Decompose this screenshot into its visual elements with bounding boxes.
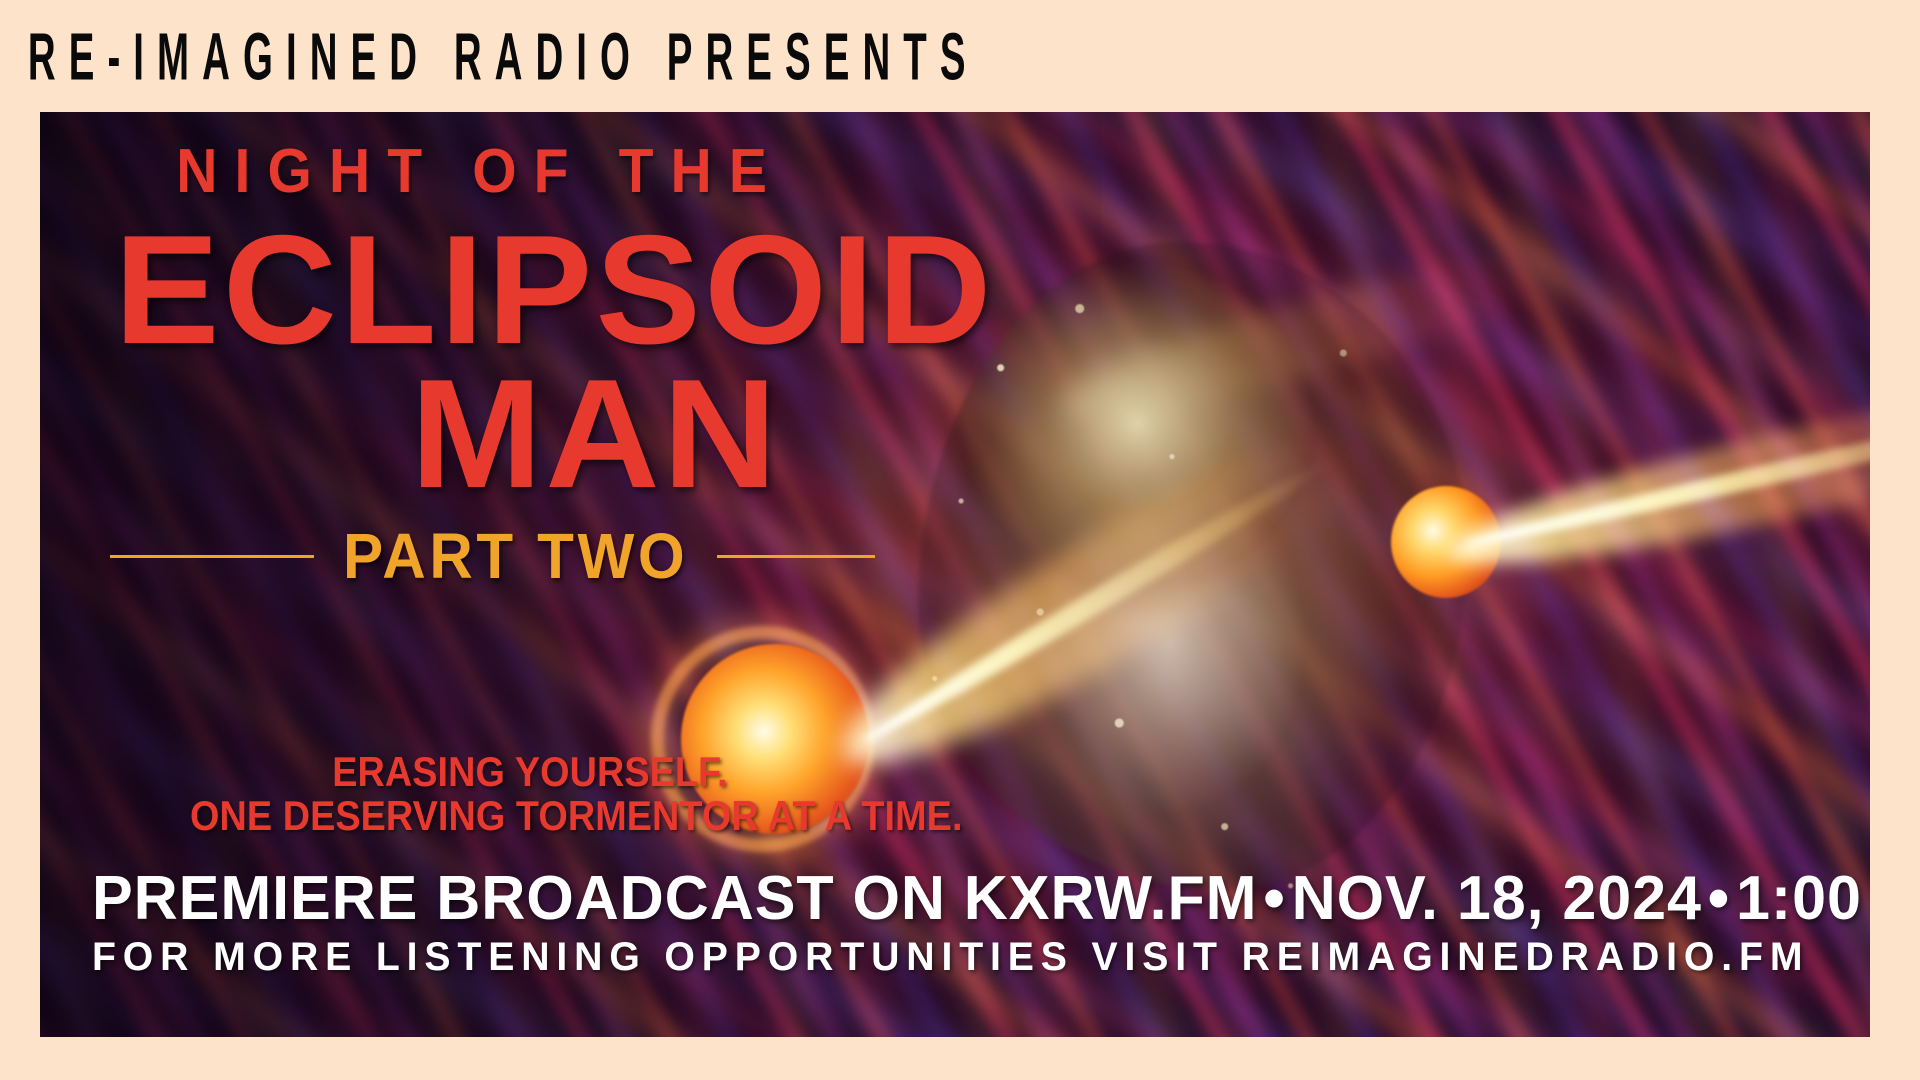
tagline-line-one: ERASING YOURSELF. <box>190 752 963 792</box>
tagline-block: ERASING YOURSELF. ONE DESERVING TORMENTO… <box>190 752 1048 836</box>
title-block: NIGHT OF THE ECLIPSOID MAN PART TWO <box>110 138 1120 588</box>
broadcast-time: 1:00 PM PT <box>1736 864 1870 933</box>
part-label: PART TWO <box>343 524 688 588</box>
broadcast-date: NOV. 18, 2024 <box>1292 864 1702 933</box>
presents-title: RE-IMAGINED RADIO PRESENTS <box>0 25 979 92</box>
title-kicker: NIGHT OF THE <box>110 138 1039 206</box>
title-line-one: ECLIPSOID <box>110 212 1160 367</box>
broadcast-main-line: PREMIERE BROADCAST ON KXRW.FM•NOV. 18, 2… <box>92 867 1804 931</box>
broadcast-station: PREMIERE BROADCAST ON KXRW.FM <box>92 864 1257 933</box>
part-label-row: PART TWO <box>110 524 1120 588</box>
right-eye-orb <box>1391 486 1501 598</box>
broadcast-info-block: PREMIERE BROADCAST ON KXRW.FM•NOV. 18, 2… <box>92 867 1830 979</box>
broadcast-website-line: FOR MORE LISTENING OPPORTUNITIES VISIT R… <box>92 935 1795 979</box>
artwork-panel: NIGHT OF THE ECLIPSOID MAN PART TWO ERAS… <box>40 112 1870 1037</box>
tagline-line-two: ONE DESERVING TORMENTOR AT A TIME. <box>190 796 963 836</box>
broadcast-bullet-two: • <box>1702 864 1736 933</box>
part-rule-left <box>110 555 314 558</box>
poster-header: RE-IMAGINED RADIO PRESENTS <box>0 0 1920 112</box>
title-line-two: MAN <box>90 356 1140 511</box>
broadcast-bullet-one: • <box>1257 864 1291 933</box>
part-rule-right <box>717 555 875 558</box>
